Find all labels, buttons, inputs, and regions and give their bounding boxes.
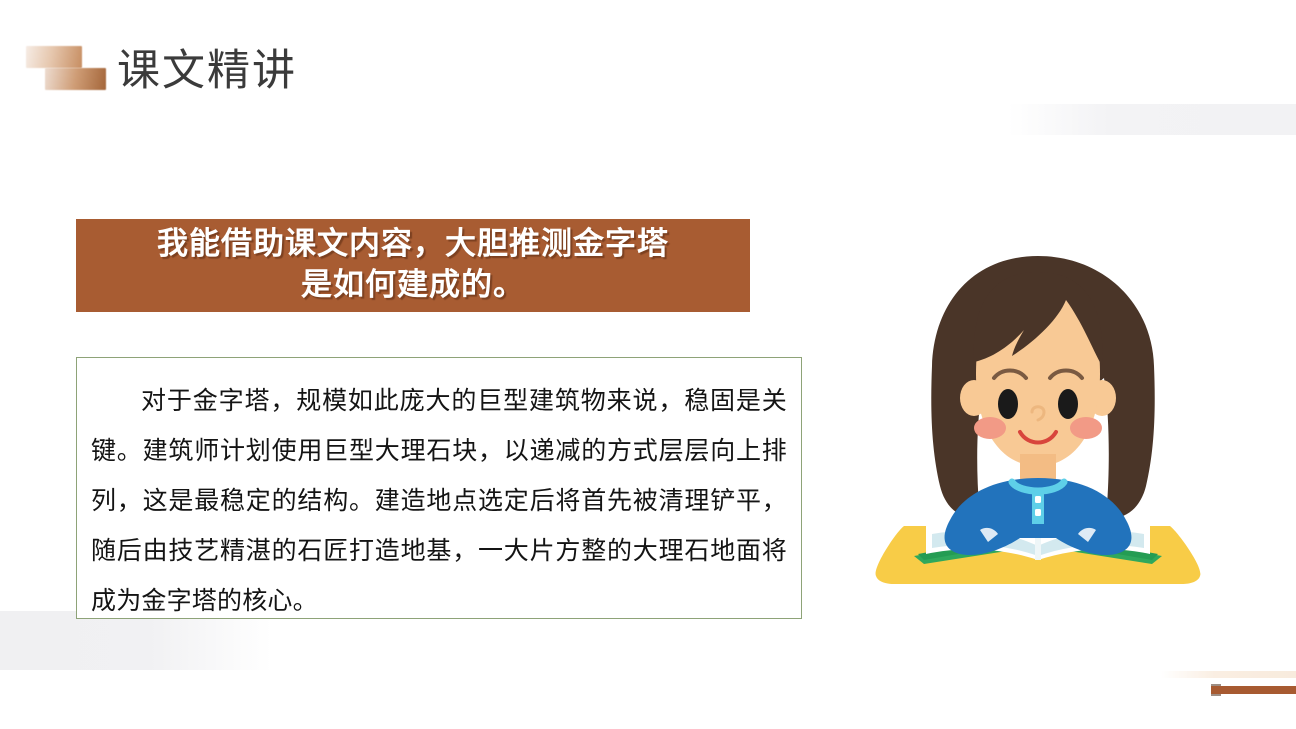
page-title: 课文精讲 <box>117 44 297 98</box>
logo-bar-top <box>26 46 82 68</box>
instruction-banner: 我能借助课文内容，大胆推测金字塔 是如何建成的。 <box>76 219 750 312</box>
decor-band-cream <box>1161 671 1296 678</box>
decor-band-brown <box>1211 686 1296 694</box>
passage-textbox: 对于金字塔，规模如此庞大的巨型建筑物来说，稳固是关键。建筑师计划使用巨型大理石块… <box>76 357 802 619</box>
girl-reading-svg <box>852 238 1224 600</box>
blush-left <box>974 417 1006 439</box>
shirt-placket <box>1032 488 1044 524</box>
slide-canvas: 课文精讲 我能借助课文内容，大胆推测金字塔 是如何建成的。 对于金字塔，规模如此… <box>0 0 1296 729</box>
shirt-button-top <box>1035 496 1041 503</box>
stacked-bars-logo-icon <box>26 46 106 94</box>
instruction-banner-text: 我能借助课文内容，大胆推测金字塔 是如何建成的。 <box>157 223 669 305</box>
logo-bar-bottom <box>45 68 106 90</box>
shirt-button-bottom <box>1035 509 1041 516</box>
blush-right <box>1070 417 1102 439</box>
book-spine-gap <box>1035 536 1041 560</box>
passage-paragraph: 对于金字塔，规模如此庞大的巨型建筑物来说，稳固是关键。建筑师计划使用巨型大理石块… <box>91 376 787 626</box>
girl-reading-book-illustration <box>852 238 1224 600</box>
eye-right <box>1058 389 1078 419</box>
eye-left <box>998 389 1018 419</box>
slide-header: 课文精讲 <box>0 0 1296 140</box>
